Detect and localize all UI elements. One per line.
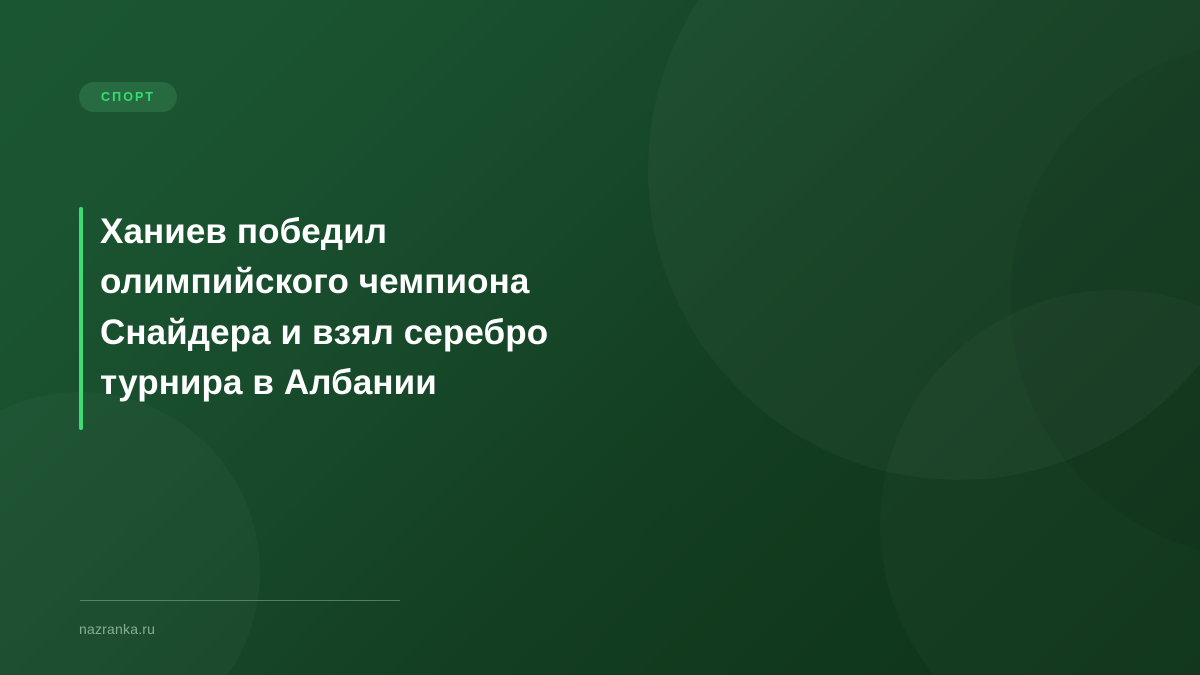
page-title: Ханиев победил олимпийского чемпиона Сна… [83, 207, 620, 430]
social-share-card: СПОРТ Ханиев победил олимпийского чемпио… [0, 0, 1200, 675]
category-badge-label: СПОРТ [101, 91, 155, 104]
source-domain[interactable]: nazranka.ru [79, 621, 155, 638]
headline-block: Ханиев победил олимпийского чемпиона Сна… [79, 207, 639, 430]
background-circle-lower-right [880, 290, 1200, 675]
background-shadow-right [1010, 40, 1200, 560]
category-badge[interactable]: СПОРТ [79, 82, 177, 112]
background-circle-upper-right [648, 0, 1200, 480]
footer-divider [80, 600, 400, 601]
